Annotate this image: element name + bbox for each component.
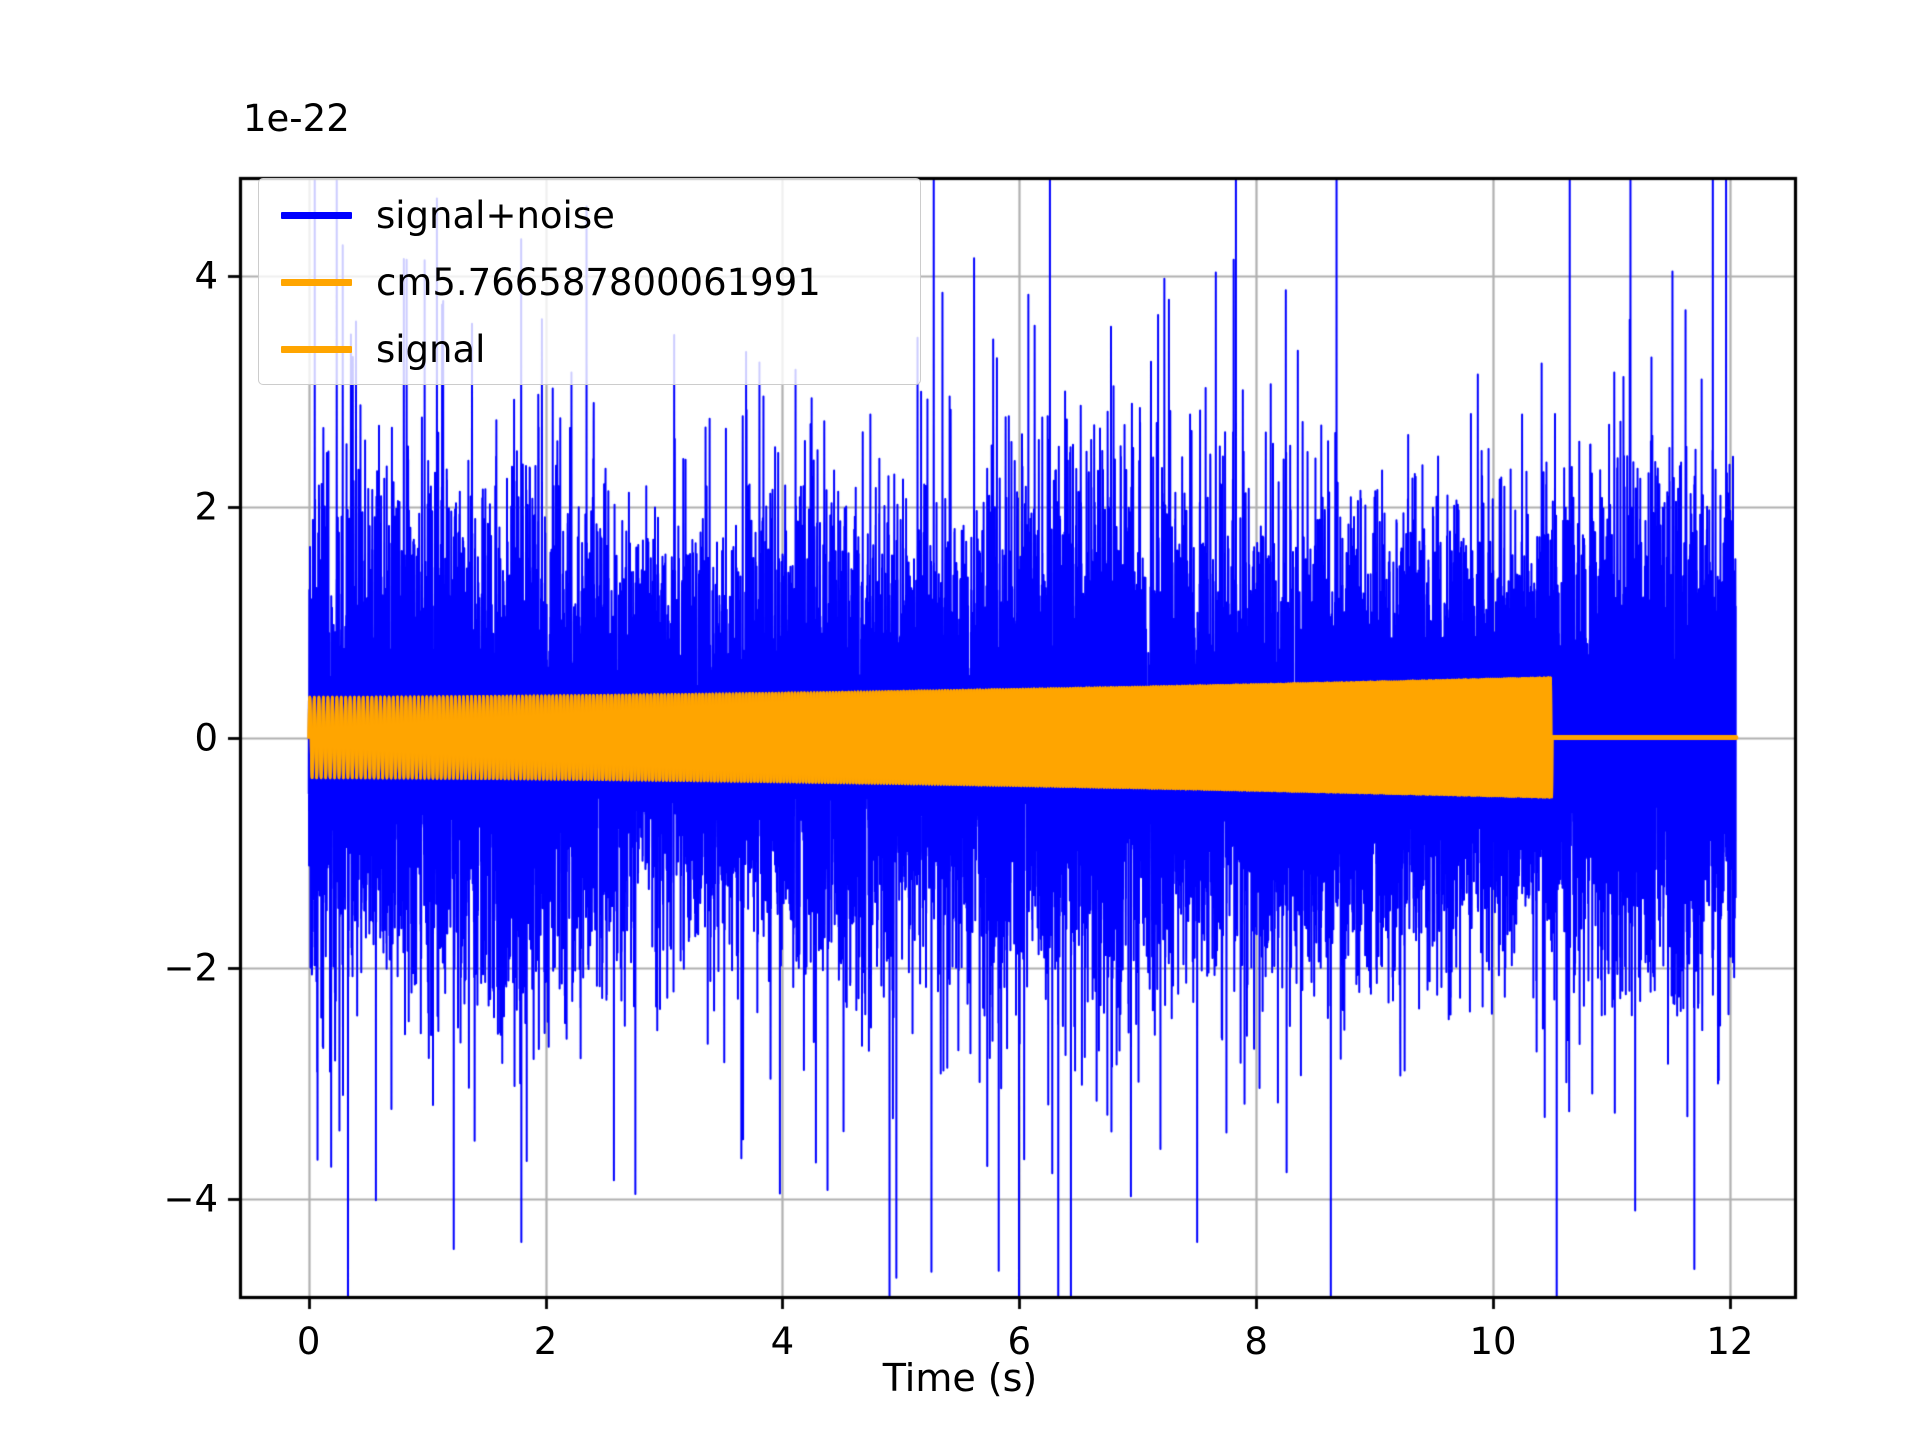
x-axis-label: Time (s) bbox=[883, 1359, 1038, 1397]
legend-label-template: cm5.766587800061991 bbox=[376, 261, 821, 304]
legend-label-signal-noise: signal+noise bbox=[376, 194, 615, 237]
legend[interactable]: signal+noise cm5.766587800061991 signal bbox=[258, 178, 921, 385]
y-tick-label: 0 bbox=[0, 719, 218, 756]
x-tick-label: 6 bbox=[1007, 1323, 1031, 1360]
y-tick-label: 4 bbox=[0, 258, 218, 295]
legend-item-signal[interactable]: signal bbox=[259, 315, 920, 384]
y-tick-label: 2 bbox=[0, 488, 218, 525]
legend-item-template[interactable]: cm5.766587800061991 bbox=[259, 248, 920, 317]
x-tick-label: 4 bbox=[771, 1323, 795, 1360]
legend-swatch-template bbox=[281, 279, 352, 286]
x-tick-label: 2 bbox=[534, 1323, 558, 1360]
x-tick-label: 10 bbox=[1469, 1323, 1516, 1360]
legend-swatch-signal bbox=[281, 346, 352, 353]
x-tick-label: 12 bbox=[1706, 1323, 1753, 1360]
x-tick-label: 0 bbox=[297, 1323, 321, 1360]
y-tick-label: −4 bbox=[0, 1180, 218, 1217]
legend-item-signal-noise[interactable]: signal+noise bbox=[259, 181, 920, 250]
matplotlib-figure: 1e-22 420−2−4 024681012 Time (s) signal+… bbox=[0, 0, 1920, 1440]
x-tick-label: 8 bbox=[1244, 1323, 1268, 1360]
y-axis-offset-text: 1e-22 bbox=[243, 100, 350, 137]
legend-label-signal: signal bbox=[376, 328, 485, 371]
y-tick-label: −2 bbox=[0, 950, 218, 987]
legend-swatch-signal-noise bbox=[281, 212, 352, 219]
